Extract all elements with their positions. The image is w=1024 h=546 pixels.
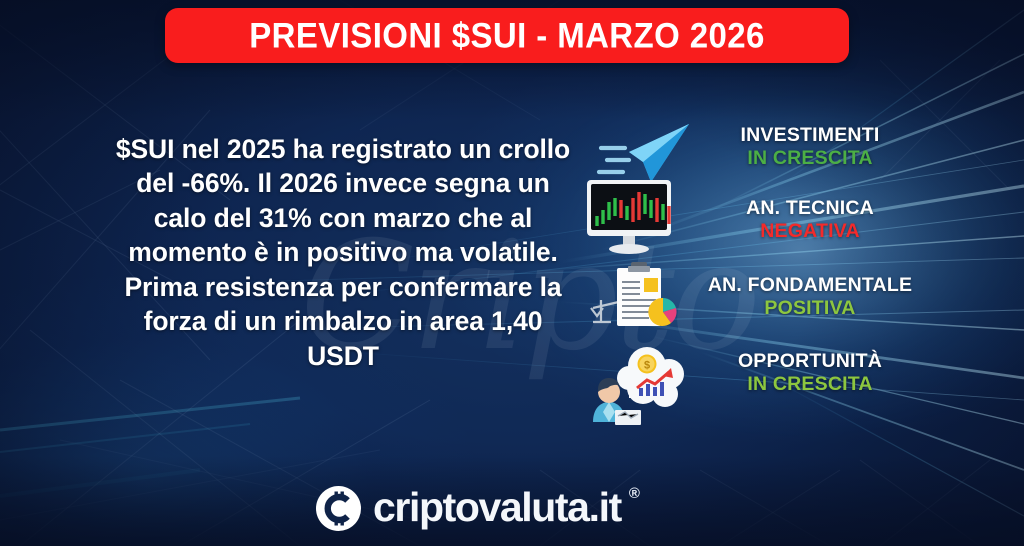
registered-trademark-icon: ® bbox=[629, 485, 640, 502]
metric-investimenti: INVESTIMENTI IN CRESCITA bbox=[660, 124, 960, 171]
metric-title: OPPORTUNITÀ bbox=[660, 350, 960, 373]
metric-title: AN. TECNICA bbox=[660, 197, 960, 220]
page-title: PREVISIONI $SUI - MARZO 2026 bbox=[249, 15, 765, 55]
metric-value: IN CRESCITA bbox=[660, 373, 960, 397]
body-paragraph: $SUI nel 2025 ha registrato un crollo de… bbox=[108, 132, 578, 373]
metric-value: POSITIVA bbox=[660, 297, 960, 321]
metric-analisi-fondamentale: AN. FONDAMENTALE POSITIVA bbox=[660, 274, 960, 321]
metric-opportunita: OPPORTUNITÀ IN CRESCITA bbox=[660, 350, 960, 397]
metric-title: AN. FONDAMENTALE bbox=[660, 274, 960, 297]
title-banner: PREVISIONI $SUI - MARZO 2026 bbox=[165, 8, 849, 63]
metric-title: INVESTIMENTI bbox=[660, 124, 960, 147]
infographic-canvas: Cripto PREVISIONI $SUI - MARZO 2026 $SUI… bbox=[0, 0, 1024, 546]
metric-value: IN CRESCITA bbox=[660, 147, 960, 171]
brand-logo[interactable]: criptovaluta.it ® bbox=[315, 485, 639, 532]
metric-analisi-tecnica: AN. TECNICA NEGATIVA bbox=[660, 197, 960, 244]
logo-wordmark: criptovaluta.it bbox=[373, 484, 621, 531]
svg-text:$: $ bbox=[644, 360, 650, 372]
coin-c-icon bbox=[315, 485, 362, 532]
metrics-list: INVESTIMENTI IN CRESCITA AN. TECNICA NEG… bbox=[660, 124, 960, 397]
metric-value: NEGATIVA bbox=[660, 220, 960, 244]
